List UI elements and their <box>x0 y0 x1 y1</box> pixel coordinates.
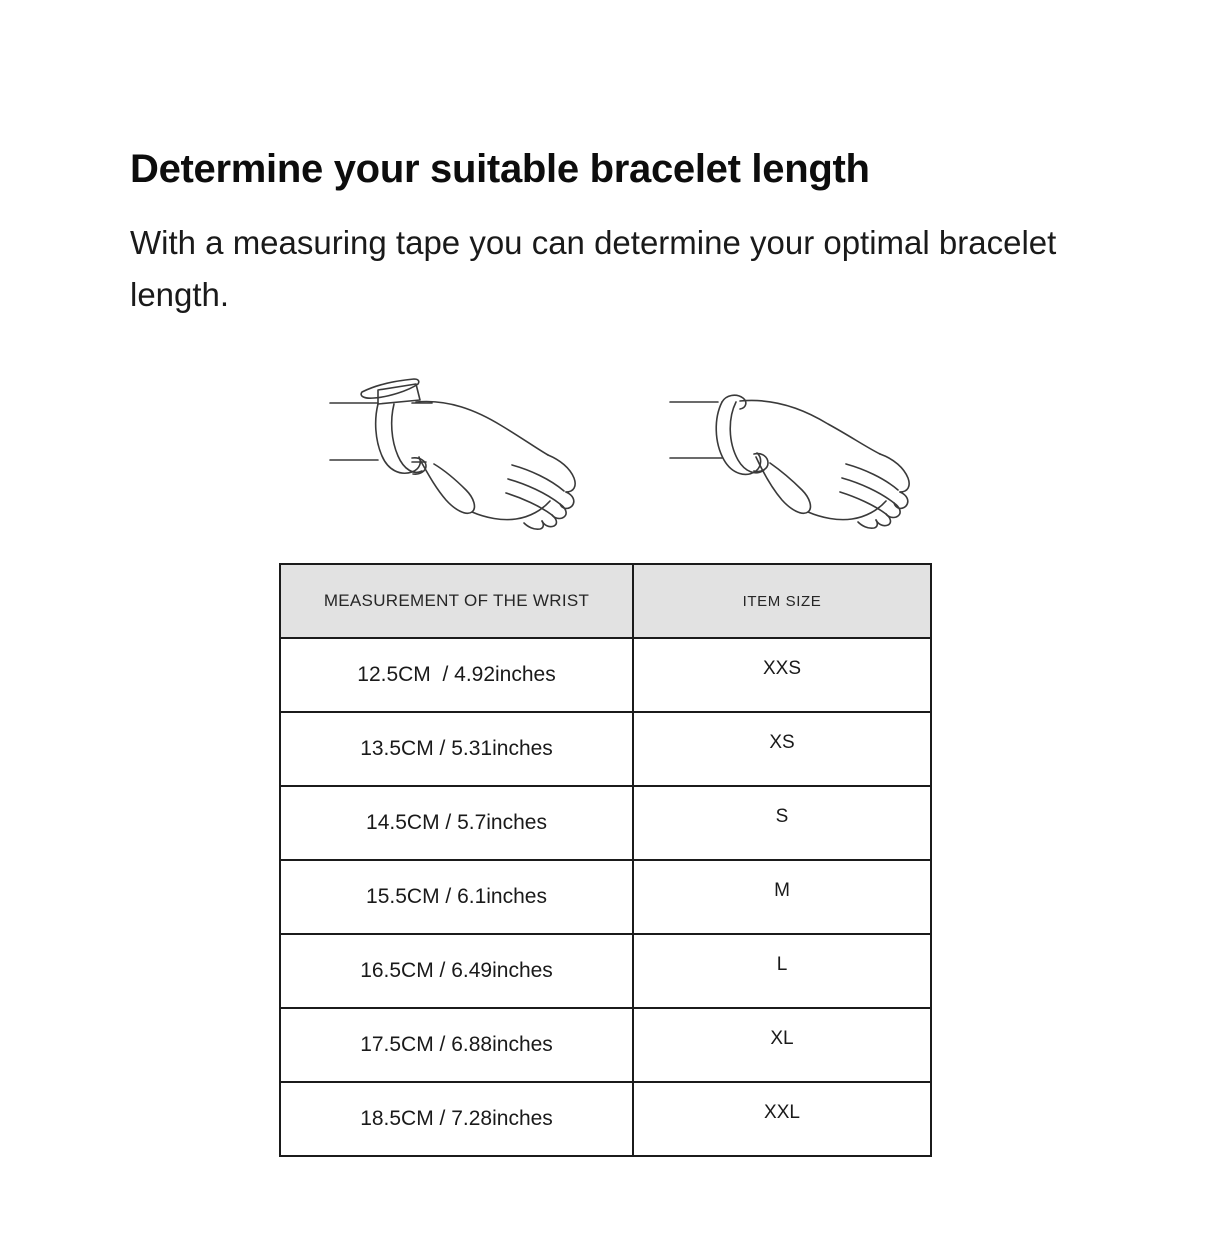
page-subtitle: With a measuring tape you can determine … <box>130 217 1110 321</box>
table-row: 12.5CM / 4.92inches XXS <box>280 638 931 712</box>
cell-item-size: S <box>633 786 931 860</box>
table-row: 17.5CM / 6.88inches XL <box>280 1008 931 1082</box>
table-header: MEASUREMENT OF THE WRIST ITEM SIZE <box>280 564 931 638</box>
cell-measurement: 12.5CM / 4.92inches <box>280 638 633 712</box>
cell-item-size: L <box>633 934 931 1008</box>
cell-item-size: XL <box>633 1008 931 1082</box>
table-row: 14.5CM / 5.7inches S <box>280 786 931 860</box>
cell-measurement: 18.5CM / 7.28inches <box>280 1082 633 1156</box>
cell-item-size: M <box>633 860 931 934</box>
illustration-group <box>316 358 936 553</box>
cell-measurement: 16.5CM / 6.49inches <box>280 934 633 1008</box>
column-header-measurement: MEASUREMENT OF THE WRIST <box>280 564 633 638</box>
table-row: 15.5CM / 6.1inches M <box>280 860 931 934</box>
table-header-row: MEASUREMENT OF THE WRIST ITEM SIZE <box>280 564 931 638</box>
cell-item-size: XXL <box>633 1082 931 1156</box>
heading-block: Determine your suitable bracelet length … <box>130 146 1110 321</box>
table-row: 18.5CM / 7.28inches XXL <box>280 1082 931 1156</box>
hand-with-bangle-illustration <box>656 358 936 553</box>
table-row: 16.5CM / 6.49inches L <box>280 934 931 1008</box>
size-table-container: MEASUREMENT OF THE WRIST ITEM SIZE 12.5C… <box>279 563 930 1157</box>
cell-measurement: 14.5CM / 5.7inches <box>280 786 633 860</box>
table-body: 12.5CM / 4.92inches XXS 13.5CM / 5.31inc… <box>280 638 931 1156</box>
size-guide-page: Determine your suitable bracelet length … <box>0 0 1226 1237</box>
bracelet-size-table: MEASUREMENT OF THE WRIST ITEM SIZE 12.5C… <box>279 563 932 1157</box>
cell-measurement: 13.5CM / 5.31inches <box>280 712 633 786</box>
table-row: 13.5CM / 5.31inches XS <box>280 712 931 786</box>
cell-item-size: XS <box>633 712 931 786</box>
cell-item-size: XXS <box>633 638 931 712</box>
hand-with-measuring-tape-illustration <box>316 358 596 553</box>
column-header-item-size: ITEM SIZE <box>633 564 931 638</box>
page-title: Determine your suitable bracelet length <box>130 146 1110 193</box>
cell-measurement: 17.5CM / 6.88inches <box>280 1008 633 1082</box>
cell-measurement: 15.5CM / 6.1inches <box>280 860 633 934</box>
